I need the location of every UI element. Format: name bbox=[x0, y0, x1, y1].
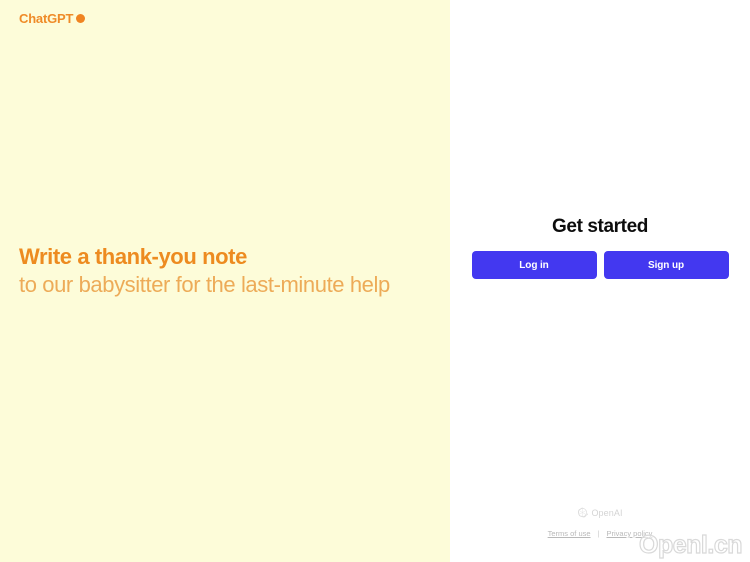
openai-wordmark-label: OpenAI bbox=[591, 508, 622, 518]
signup-button[interactable]: Sign up bbox=[604, 251, 729, 279]
chatgpt-brand-logo: ChatGPT bbox=[19, 11, 85, 26]
footer-links: Terms of use | Privacy policy bbox=[548, 529, 653, 538]
promo-text-block: Write a thank-you note to our babysitter… bbox=[19, 243, 419, 299]
privacy-policy-link[interactable]: Privacy policy bbox=[607, 529, 653, 538]
footer-separator: | bbox=[598, 529, 600, 538]
promo-panel: ChatGPT Write a thank-you note to our ba… bbox=[0, 0, 450, 562]
openai-logo: OpenAI bbox=[577, 507, 622, 518]
openai-blossom-icon bbox=[577, 507, 588, 518]
signed-out-landing-page: ChatGPT Write a thank-you note to our ba… bbox=[0, 0, 750, 562]
brand-name-label: ChatGPT bbox=[19, 11, 73, 26]
terms-of-use-link[interactable]: Terms of use bbox=[548, 529, 591, 538]
promo-headline: Write a thank-you note bbox=[19, 243, 419, 271]
get-started-block: Get started Log in Sign up bbox=[450, 216, 750, 279]
promo-subline: to our babysitter for the last-minute he… bbox=[19, 271, 419, 299]
auth-button-group: Log in Sign up bbox=[472, 251, 729, 279]
page-title: Get started bbox=[552, 216, 648, 238]
footer: OpenAI Terms of use | Privacy policy bbox=[450, 507, 750, 538]
login-button[interactable]: Log in bbox=[472, 251, 597, 279]
filled-circle-icon bbox=[76, 14, 85, 23]
auth-panel: Get started Log in Sign up OpenAI Terms … bbox=[450, 0, 750, 562]
